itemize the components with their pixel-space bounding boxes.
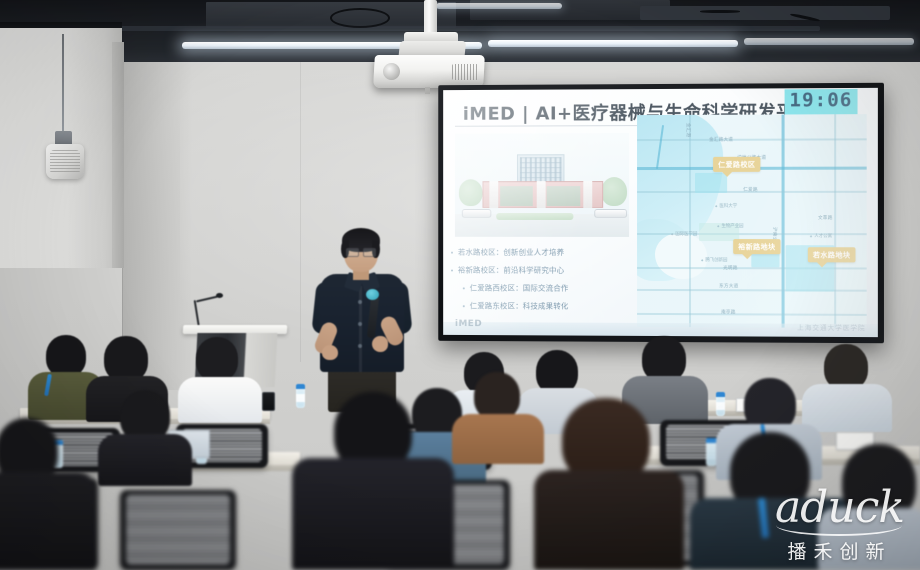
photo-gate-column bbox=[490, 181, 499, 208]
map-road bbox=[637, 313, 867, 316]
person-body bbox=[534, 470, 684, 570]
smartphone bbox=[262, 392, 275, 411]
map-poi-label: 腾飞创新园 bbox=[701, 257, 727, 263]
list-item: 裕新路校区：前沿科学研究中心 bbox=[451, 265, 635, 276]
column-edge bbox=[112, 42, 124, 268]
map-street-label: 文萃路 bbox=[818, 215, 833, 221]
presenter-shirt-button bbox=[358, 300, 362, 304]
glasses-lens-left bbox=[346, 248, 359, 257]
map-poi-label: 人才公寓 bbox=[810, 233, 832, 239]
bottle-cap bbox=[716, 392, 725, 397]
ceiling-duct bbox=[640, 6, 890, 20]
lectern-mic-head bbox=[216, 293, 223, 298]
bottle-cap bbox=[296, 384, 305, 389]
photo-hedge bbox=[496, 213, 573, 220]
photo-gate-column bbox=[584, 181, 593, 208]
projector-mount-pole bbox=[424, 0, 437, 36]
map-street-label: 金汇港 bbox=[685, 123, 691, 137]
projector-foot bbox=[425, 87, 430, 94]
map-callout-ruoshui: 若水路地块 bbox=[808, 247, 856, 262]
bullet-text: 裕新路校区：前沿科学研究中心 bbox=[458, 265, 564, 276]
bullet-dot-icon bbox=[451, 269, 453, 271]
photo-car bbox=[462, 209, 492, 218]
presenter-shirt-placket bbox=[359, 286, 362, 372]
bottle-label bbox=[296, 394, 305, 402]
map-callout-renai: 仁爱路校区 bbox=[713, 157, 760, 172]
person-body bbox=[98, 434, 192, 486]
screenshot-root: iMED | AI+医疗器械与生命科学研发平台 19:06 bbox=[0, 0, 920, 570]
map-road bbox=[834, 114, 836, 328]
ceiling-cable bbox=[700, 10, 740, 13]
bullet-text: 仁爱路西校区：国际交流合作 bbox=[470, 282, 569, 293]
person-body bbox=[178, 377, 262, 423]
list-item: 仁爱路东校区：科技成果转化 bbox=[451, 300, 635, 312]
bullet-dot-icon bbox=[451, 251, 453, 253]
bullet-dot-icon bbox=[463, 305, 465, 307]
projection-screen-frame: iMED | AI+医疗器械与生命科学研发平台 19:06 bbox=[438, 83, 884, 343]
bullet-text: 若水路校区：创新创业人才培养 bbox=[458, 247, 564, 258]
person-body bbox=[452, 414, 544, 464]
pendant-speaker-grille bbox=[50, 150, 80, 174]
map-callout-yuxin: 裕新路地块 bbox=[733, 239, 780, 254]
chair-mesh-back bbox=[126, 495, 230, 564]
person-body bbox=[0, 472, 96, 570]
map-road-major bbox=[782, 114, 785, 327]
photo-gate-arch bbox=[547, 186, 580, 206]
pendant-suspension-wire bbox=[62, 34, 64, 134]
clock-overlay: 19:06 bbox=[784, 89, 857, 114]
presenter-shirt-button bbox=[358, 344, 362, 348]
map-street-label: 南亭路 bbox=[721, 309, 735, 315]
presenter-glasses bbox=[346, 248, 376, 255]
ceiling-rail bbox=[120, 26, 820, 31]
person-head bbox=[46, 335, 86, 377]
wall-seam bbox=[300, 62, 301, 362]
bullet-text: 仁爱路东校区：科技成果转化 bbox=[470, 300, 569, 311]
bottle-label bbox=[716, 402, 725, 410]
person-body bbox=[818, 508, 920, 570]
map-street-label: 仁爱路 bbox=[743, 187, 757, 193]
slide-footer-mark: 上海交通大学医学院 bbox=[797, 322, 865, 332]
projector-lens bbox=[383, 63, 400, 80]
slide-logo: iMED bbox=[455, 319, 482, 329]
map-street-label: 光明路 bbox=[723, 265, 737, 271]
person-body bbox=[292, 458, 454, 570]
map-road bbox=[689, 115, 691, 327]
office-chair bbox=[120, 490, 236, 570]
slide-campus-photo bbox=[455, 133, 629, 237]
person-body bbox=[802, 384, 892, 432]
bullet-dot-icon bbox=[463, 287, 465, 289]
map-street-label: 东方大道 bbox=[719, 283, 738, 289]
ceiling-led-tube bbox=[436, 3, 562, 9]
map-poi-label: 医科大学 bbox=[715, 203, 737, 209]
ceiling-led-tube bbox=[744, 38, 914, 45]
ceiling-cable-coil bbox=[330, 8, 390, 28]
photo-tree bbox=[458, 179, 482, 206]
presenter-right-hand bbox=[372, 336, 388, 352]
photo-gate-column bbox=[536, 181, 545, 208]
photo-gate-arch bbox=[500, 186, 533, 206]
map-poi-label: 国际医学园 bbox=[671, 231, 697, 237]
projector-vent bbox=[452, 64, 478, 80]
list-item: 若水路校区：创新创业人才培养 bbox=[451, 247, 635, 258]
slide-map: 金汇港 金汇路大道 沪杭公路大道 仁爱路 文萃路 东方大道 南亭路 沪南公路 光… bbox=[637, 114, 867, 328]
microphone-head bbox=[366, 289, 379, 300]
presenter-shirt-button bbox=[358, 322, 362, 326]
glasses-lens-right bbox=[363, 248, 376, 257]
photo-tree bbox=[601, 177, 627, 206]
projection-screen-surface: iMED | AI+医疗器械与生命科学研发平台 19:06 bbox=[443, 88, 878, 337]
map-street-label: 金汇路大道 bbox=[709, 137, 733, 143]
ceiling-led-tube bbox=[488, 40, 738, 47]
person-head bbox=[196, 337, 238, 381]
person-head bbox=[474, 372, 520, 420]
slide-bullet-list: 若水路校区：创新创业人才培养 裕新路校区：前沿科学研究中心 仁爱路西校区：国际交… bbox=[451, 247, 635, 319]
map-road bbox=[637, 138, 867, 141]
presenter-left-hand bbox=[322, 345, 338, 360]
photo-car bbox=[594, 209, 628, 218]
list-item: 仁爱路西校区：国际交流合作 bbox=[451, 282, 635, 294]
map-poi-label: 生物产业园 bbox=[717, 223, 743, 229]
